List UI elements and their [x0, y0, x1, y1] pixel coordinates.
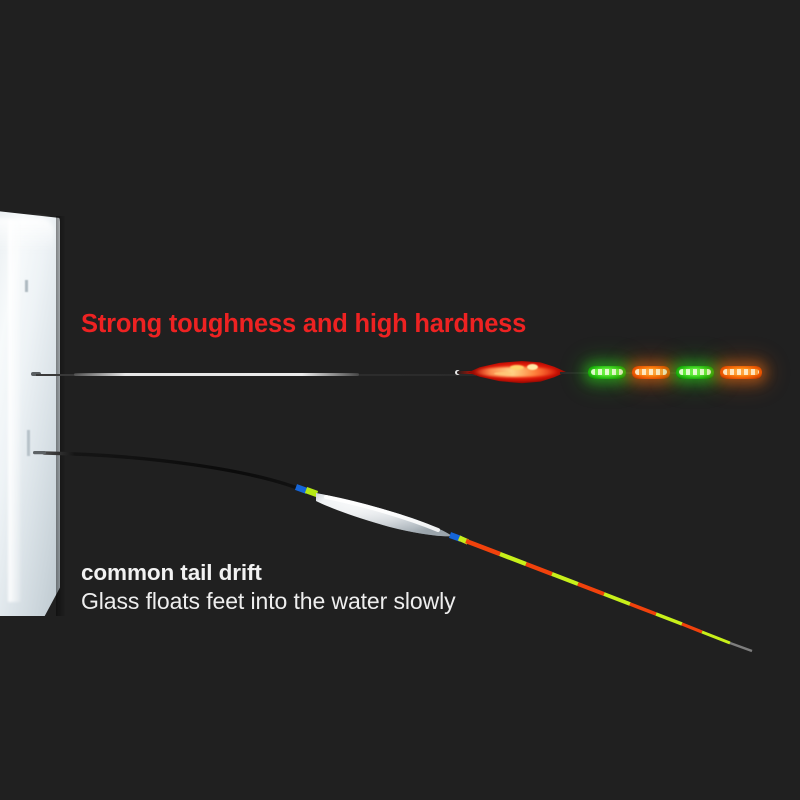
- lower-float-tail: [466, 541, 752, 651]
- product-image-canvas: Strong toughness and high hardness commo…: [0, 0, 800, 800]
- lower-tail-segment-2: [500, 554, 526, 564]
- lower-tail-segment-1: [466, 541, 500, 554]
- lower-tail-segment-4: [552, 574, 578, 584]
- lower-tail-segment-10: [702, 632, 730, 643]
- headline-strong-toughness: Strong toughness and high hardness: [81, 310, 526, 339]
- lower-tail-segment-5: [578, 584, 604, 594]
- lower-float-stem: [44, 453, 300, 489]
- lower-tail-tip: [730, 643, 752, 651]
- caption-subtitle: Glass floats feet into the water slowly: [81, 588, 456, 615]
- lower-tail-segment-8: [656, 614, 682, 624]
- lower-tail-segment-3: [526, 564, 552, 574]
- caption-title: common tail drift: [81, 560, 262, 586]
- lower-tail-segment-6: [604, 594, 630, 604]
- lower-tail-segment-7: [630, 604, 656, 614]
- lower-float-stem-cap: [33, 451, 46, 454]
- lower-float-top-band-green: [306, 490, 317, 494]
- lower-float-group: [0, 0, 800, 800]
- lower-tail-segment-9: [682, 624, 702, 632]
- lower-float-top-band-blue: [296, 487, 307, 491]
